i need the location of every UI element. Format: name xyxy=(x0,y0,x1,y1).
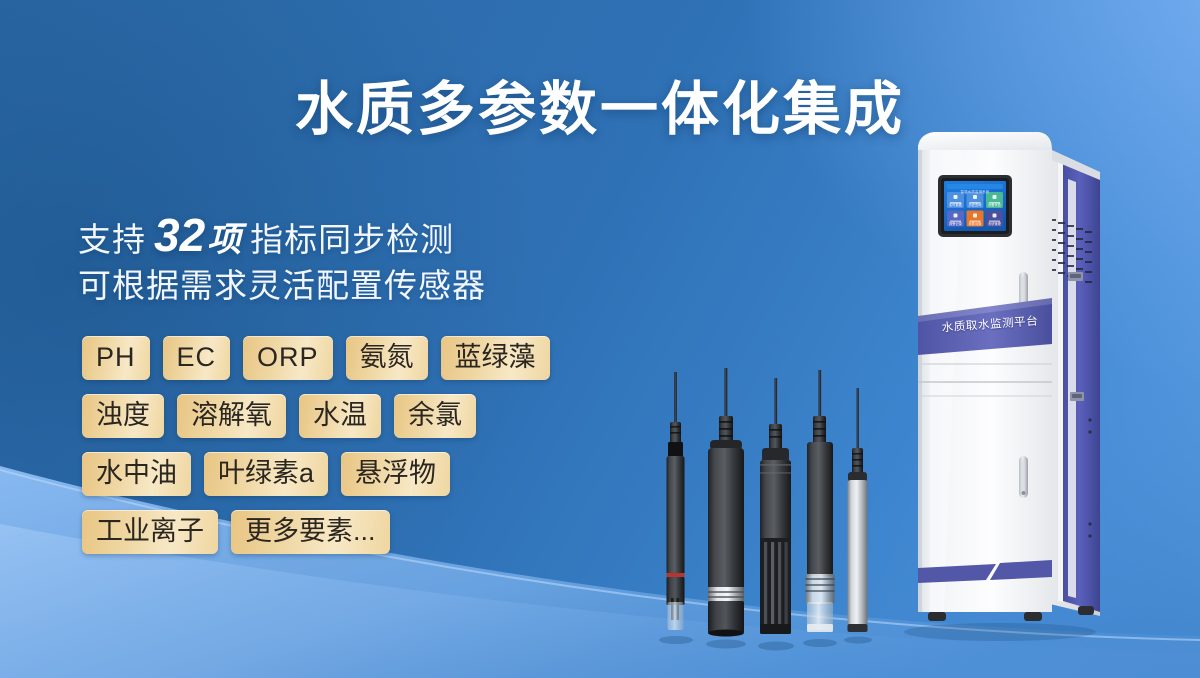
promo-banner: 水质多参数一体化集成 支持 32 项 指标同步检测 可根据需求灵活配置传感器 P… xyxy=(0,0,1200,678)
tag-industrial-ions[interactable]: 工业离子 xyxy=(82,510,218,554)
tag-row: 浊度 溶解氧 水温 余氯 xyxy=(82,394,622,438)
tag-residual-chlorine[interactable]: 余氯 xyxy=(394,394,476,438)
tag-suspended-solids[interactable]: 悬浮物 xyxy=(341,452,450,496)
tag-chlorophyll-a[interactable]: 叶绿素a xyxy=(204,452,328,496)
probe-ph xyxy=(667,372,685,630)
tag-row: PH EC ORP 氨氮 蓝绿藻 xyxy=(82,336,622,380)
tag-water-temperature[interactable]: 水温 xyxy=(299,394,381,438)
tag-row: 水中油 叶绿素a 悬浮物 xyxy=(82,452,622,496)
tag-orp[interactable]: ORP xyxy=(243,336,333,380)
subtitle-prefix: 支持 xyxy=(78,217,146,263)
subtitle-block: 支持 32 项 指标同步检测 可根据需求灵活配置传感器 xyxy=(78,212,486,309)
probe-steel xyxy=(848,388,868,632)
subtitle-suffix: 指标同步检测 xyxy=(250,217,454,263)
tag-oil-in-water[interactable]: 水中油 xyxy=(82,452,191,496)
tag-blue-green-algae[interactable]: 蓝绿藻 xyxy=(441,336,550,380)
tag-ph[interactable]: PH xyxy=(82,336,150,380)
parameter-tag-list: PH EC ORP 氨氮 蓝绿藻 浊度 溶解氧 水温 余氯 水中油 叶绿素a 悬… xyxy=(82,336,622,568)
sensor-probe-group xyxy=(650,368,900,658)
tag-turbidity[interactable]: 浊度 xyxy=(82,394,164,438)
subtitle-line-2: 可根据需求灵活配置传感器 xyxy=(78,263,486,309)
tag-more-elements[interactable]: 更多要素... xyxy=(231,510,390,554)
probe-dissolved-oxygen xyxy=(806,370,835,632)
subtitle-line-1: 支持 32 项 指标同步检测 xyxy=(78,212,486,263)
hmi-touchscreen[interactable] xyxy=(938,175,1012,237)
lower-door-handle[interactable] xyxy=(1019,456,1028,498)
water-monitoring-cabinet xyxy=(900,120,1105,645)
tag-ec[interactable]: EC xyxy=(163,336,231,380)
indicator-unit: 项 xyxy=(207,217,250,263)
probe-multi-parameter xyxy=(760,378,791,634)
indicator-count: 32 xyxy=(146,212,207,258)
tag-dissolved-oxygen[interactable]: 溶解氧 xyxy=(177,394,286,438)
tag-row: 工业离子 更多要素... xyxy=(82,510,622,554)
probe-turbidity xyxy=(708,368,744,637)
tag-ammonia[interactable]: 氨氮 xyxy=(346,336,428,380)
